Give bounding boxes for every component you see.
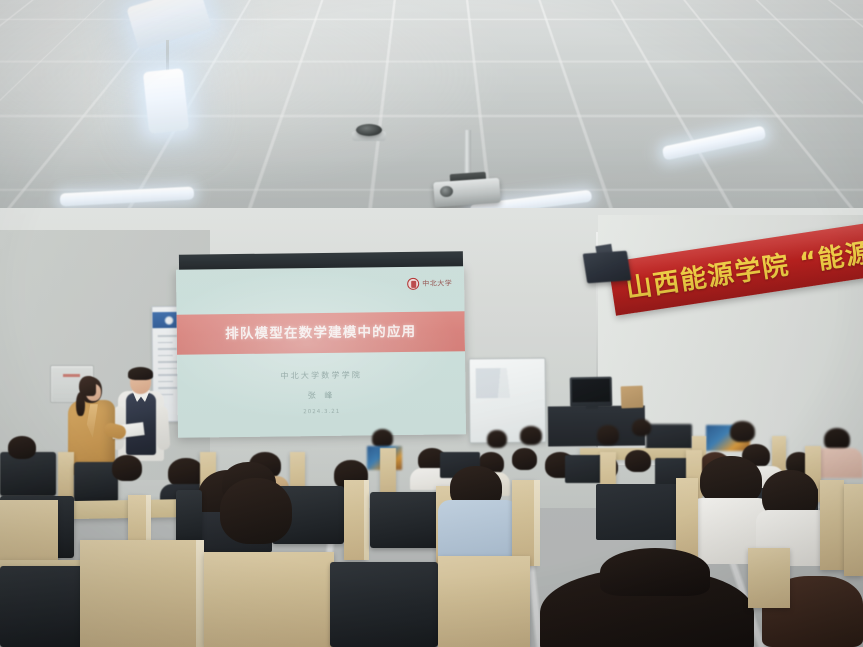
desk-partition <box>748 548 790 608</box>
slide-logo: 中北大学 <box>407 277 452 290</box>
slide-logo-text: 中北大学 <box>422 278 452 288</box>
cardboard-box <box>621 386 644 409</box>
woman-hair <box>79 376 96 396</box>
whiteboard-writing <box>476 368 535 399</box>
smoke-detector-icon <box>356 124 382 136</box>
slide-date: 2024.3.21 <box>178 407 466 417</box>
chair <box>330 562 438 647</box>
desk-partition <box>80 540 200 647</box>
desk-partition <box>438 556 530 647</box>
desk-partition <box>204 552 334 647</box>
student-head <box>730 421 755 442</box>
equipment-cabinet <box>548 405 645 446</box>
slide-organization: 中北大学数学学院 <box>177 368 465 383</box>
student-head <box>625 450 651 472</box>
student-head <box>112 455 142 481</box>
wall-speaker-icon <box>583 251 632 284</box>
student-head <box>220 478 292 544</box>
desk-partition <box>344 480 366 560</box>
monitor <box>596 484 678 540</box>
student-head <box>8 436 36 459</box>
desk-partition <box>512 480 536 566</box>
student-body <box>438 500 518 562</box>
student-head <box>632 419 651 436</box>
back-monitor <box>570 377 613 408</box>
chair <box>0 566 86 647</box>
university-seal-icon <box>407 278 419 290</box>
partition-edge <box>196 540 204 647</box>
lecture-hall-photo: 中北大学 排队模型在数学建模中的应用 中北大学数学学院 张 峰 2024.3.2… <box>0 0 863 647</box>
light-stem <box>166 40 169 72</box>
man-hair <box>128 367 153 380</box>
student-head <box>597 425 619 445</box>
desk-partition <box>844 484 863 576</box>
chair <box>370 492 440 548</box>
emblem-icon <box>164 315 173 324</box>
student-head <box>487 430 507 448</box>
back-monitor-screen <box>572 379 610 403</box>
partition-edge <box>534 480 540 566</box>
student-head <box>520 426 542 445</box>
partition-edge <box>364 480 369 560</box>
projection-screen: 中北大学 排队模型在数学建模中的应用 中北大学数学学院 张 峰 2024.3.2… <box>176 266 466 438</box>
foreground-student-head <box>600 548 710 596</box>
slide-presenter: 张 峰 <box>177 388 465 403</box>
ceiling-light-icon <box>143 68 189 134</box>
slide-title: 排队模型在数学建模中的应用 <box>177 319 465 343</box>
student-head <box>512 448 537 470</box>
desk-partition <box>820 480 844 570</box>
panel-label <box>63 374 80 377</box>
